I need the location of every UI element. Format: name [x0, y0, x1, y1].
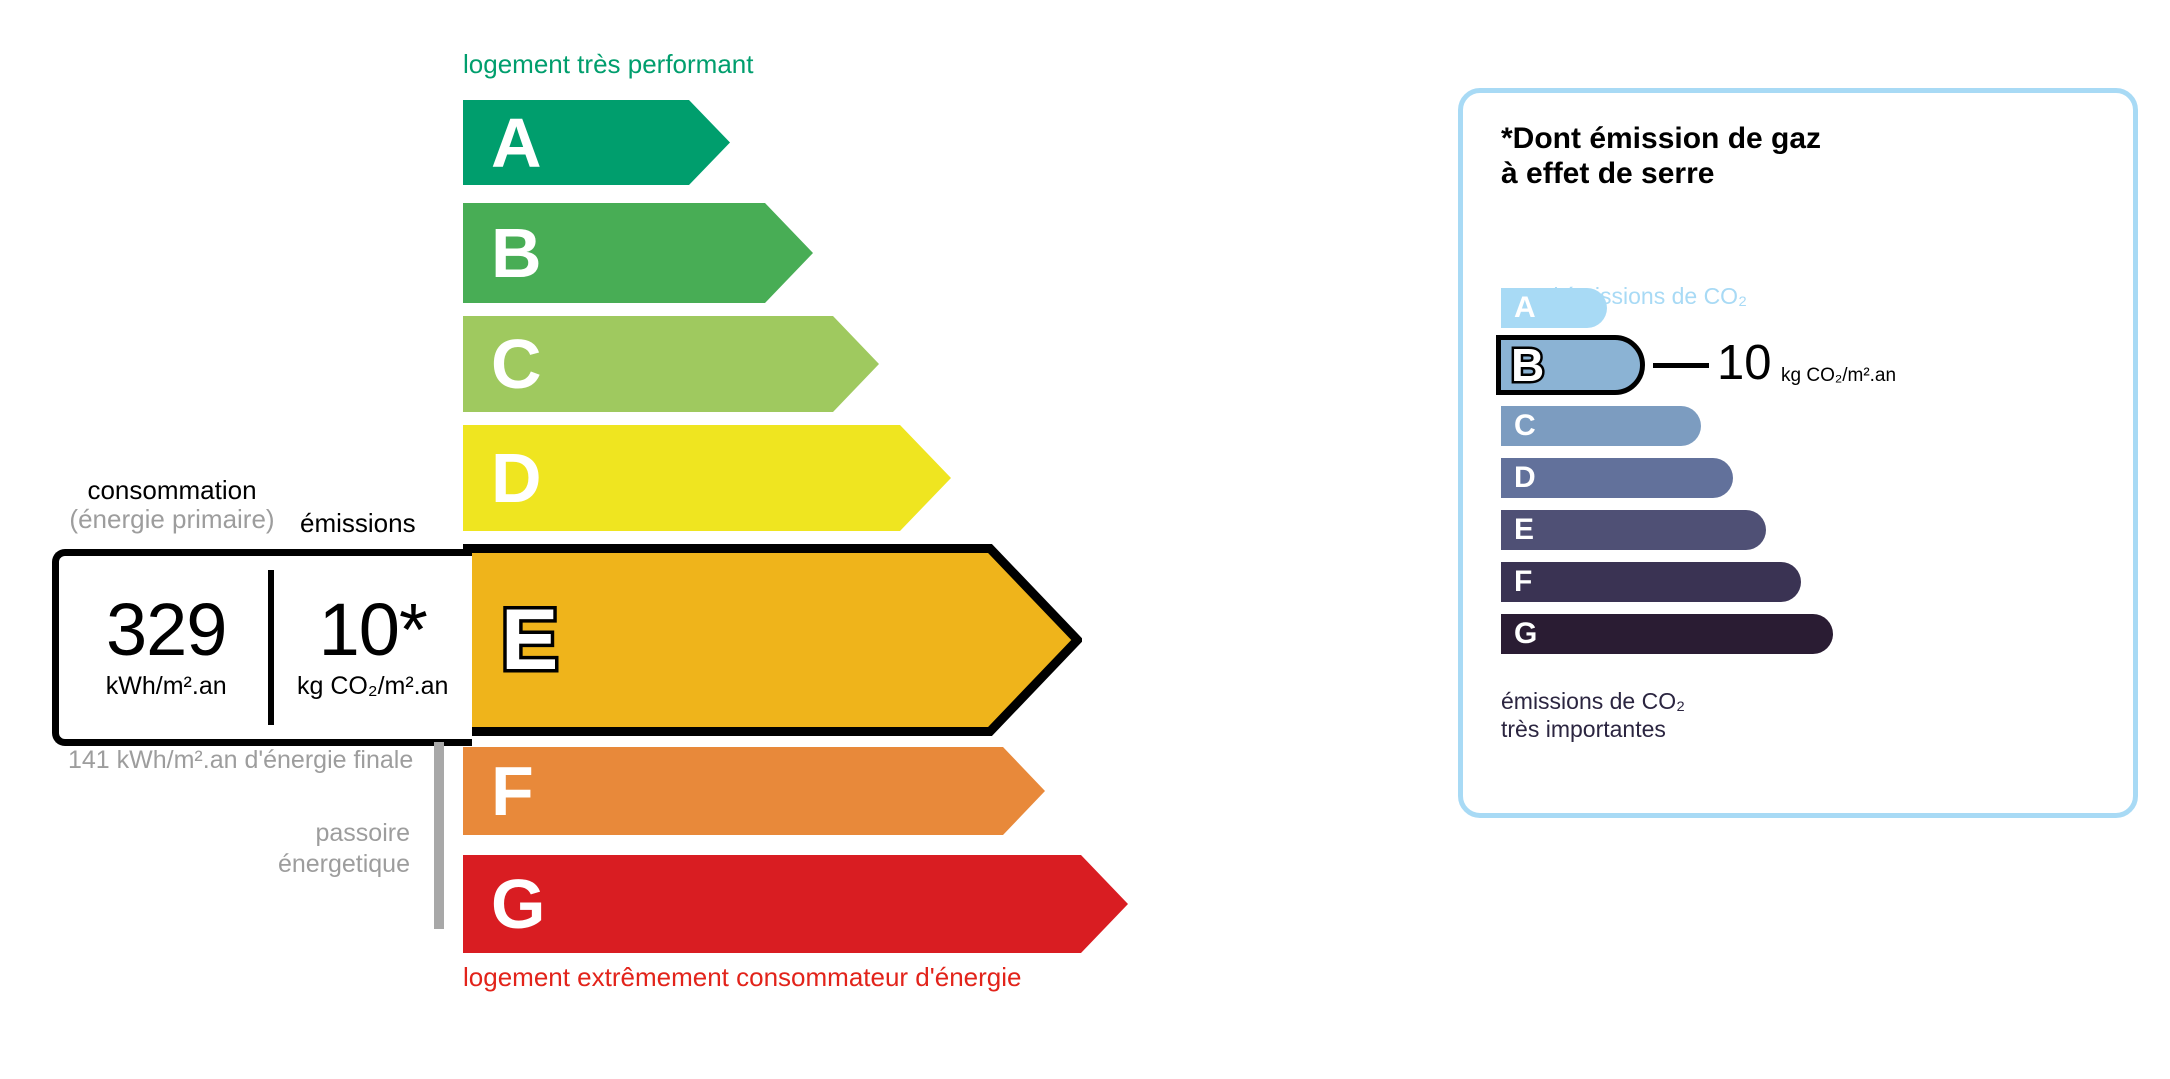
- co2-bar-letter-e: E: [1514, 515, 1534, 545]
- co2-bar-letter-f: F: [1514, 567, 1532, 597]
- energy-band-letter-g: G: [491, 869, 545, 939]
- emissions-value-cell: 10* kg CO₂/m².an: [273, 556, 472, 739]
- co2-bottom-caption: émissions de CO₂ très importantes: [1501, 688, 1685, 743]
- passoire-marker-bar: [434, 742, 444, 929]
- co2-bar-g: G: [1501, 614, 1833, 654]
- co2-bar-letter-c: C: [1514, 411, 1536, 441]
- value-box: 329 kWh/m².an 10* kg CO₂/m².an: [52, 549, 472, 746]
- energy-band-e: E: [463, 544, 1082, 736]
- co2-emissions-panel: *Dont émission de gaz à effet de serre p…: [1458, 88, 2138, 818]
- energy-band-letter-a: A: [491, 108, 542, 178]
- co2-bar-c: C: [1501, 406, 1701, 446]
- co2-panel-title: *Dont émission de gaz à effet de serre: [1501, 122, 1821, 192]
- energy-band-letter-f: F: [491, 756, 534, 826]
- co2-bar-b: B: [1496, 335, 1645, 395]
- energy-band-shape-g: [463, 855, 1128, 953]
- co2-bar-letter-d: D: [1514, 463, 1536, 493]
- emissions-label: émissions: [300, 508, 416, 539]
- energy-band-f: F: [463, 747, 1045, 835]
- energy-band-letter-e: E: [501, 597, 558, 683]
- energy-bottom-caption: logement extrêmement consommateur d'éner…: [463, 962, 1021, 993]
- co2-callout-unit: kg CO₂/m².an: [1781, 366, 1896, 385]
- energy-band-shape-f: [463, 747, 1045, 835]
- energy-performance-diagram: logement très performant ABCDEFG consomm…: [0, 0, 1400, 1079]
- co2-bar-letter-g: G: [1514, 619, 1537, 649]
- co2-bar-letter-a: A: [1514, 293, 1536, 323]
- energy-band-a: A: [463, 100, 730, 185]
- co2-bar-letter-b: B: [1511, 342, 1544, 388]
- consumption-label-group: consommation (énergie primaire): [62, 476, 282, 534]
- final-energy-note: 141 kWh/m².an d'énergie finale: [68, 745, 413, 776]
- energy-band-c: C: [463, 316, 879, 412]
- consumption-label: consommation: [87, 475, 256, 505]
- co2-callout-value: 10: [1717, 339, 1772, 388]
- co2-callout-line: [1653, 363, 1709, 368]
- energy-band-d: D: [463, 425, 951, 531]
- emissions-value: 10*: [319, 594, 427, 665]
- consumption-sub-label: (énergie primaire): [62, 505, 282, 534]
- energy-band-letter-c: C: [491, 329, 542, 399]
- co2-bar-a: A: [1501, 288, 1607, 328]
- passoire-note: passoire énergetique: [190, 818, 410, 879]
- energy-top-caption: logement très performant: [463, 49, 753, 80]
- emissions-unit: kg CO₂/m².an: [297, 672, 448, 701]
- co2-bar-f: F: [1501, 562, 1801, 602]
- consumption-value-cell: 329 kWh/m².an: [59, 556, 273, 739]
- consumption-unit: kWh/m².an: [106, 672, 227, 701]
- energy-band-letter-d: D: [491, 443, 542, 513]
- energy-band-letter-b: B: [491, 218, 542, 288]
- co2-bar-e: E: [1501, 510, 1766, 550]
- consumption-value: 329: [106, 594, 226, 665]
- co2-bar-d: D: [1501, 458, 1733, 498]
- energy-band-g: G: [463, 855, 1128, 953]
- energy-band-b: B: [463, 203, 813, 303]
